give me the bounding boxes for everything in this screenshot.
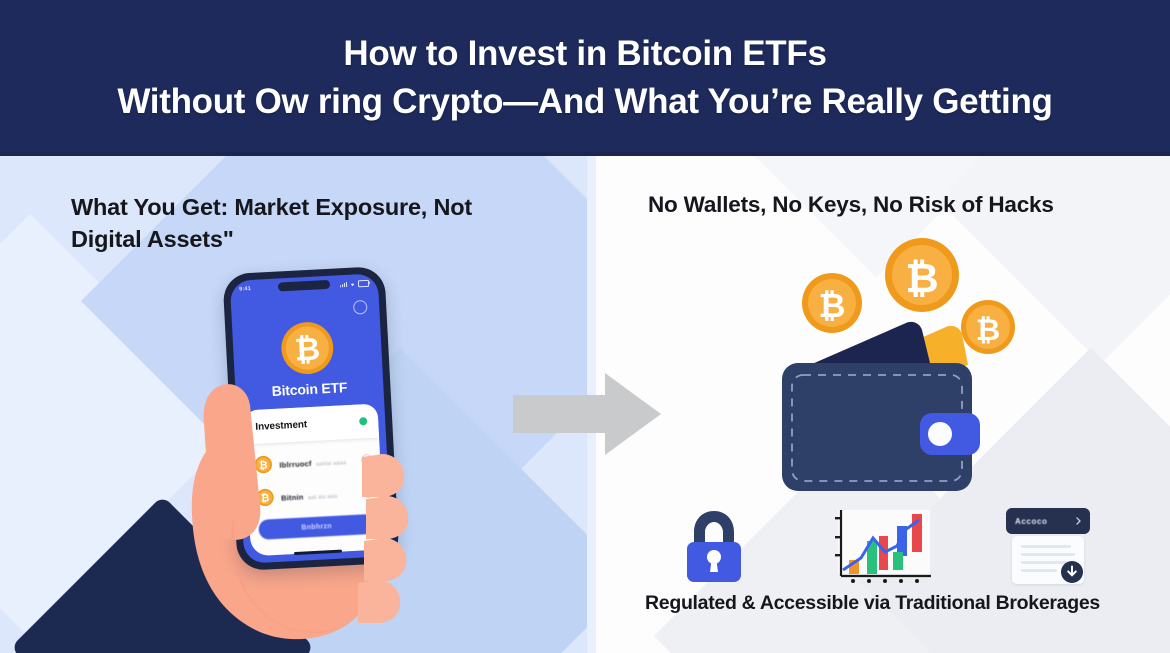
chevron-right-icon bbox=[1076, 517, 1081, 525]
bitcoin-coin-icon: ₿ bbox=[256, 488, 275, 507]
phone-device: 9:41 ₿ Bitcoin ETF bbox=[222, 266, 399, 571]
infographic-root: How to Invest in Bitcoin ETFs Without Ow… bbox=[0, 0, 1170, 653]
header-banner: How to Invest in Bitcoin ETFs Without Ow… bbox=[0, 0, 1170, 156]
account-document-icon: Accoco bbox=[1006, 508, 1090, 586]
list-item[interactable]: ₿ Iblrruocf aaiiiiai aaiaa bbox=[254, 445, 373, 479]
document-text-line bbox=[1021, 553, 1075, 556]
left-panel-heading: What You Get: Market Exposure, Not Digit… bbox=[71, 192, 541, 256]
svg-text:₿: ₿ bbox=[905, 255, 938, 301]
svg-text:₿: ₿ bbox=[819, 287, 846, 324]
list-item-title: Bitnin bbox=[281, 493, 304, 503]
phone-screen: 9:41 ₿ Bitcoin ETF bbox=[230, 273, 393, 563]
svg-text:₿: ₿ bbox=[259, 459, 269, 471]
bitcoin-coin-icon: ₿ bbox=[279, 320, 336, 377]
wallet-body bbox=[782, 363, 980, 491]
document-header-label: Accoco bbox=[1015, 517, 1048, 526]
list-item[interactable]: ₿ Bitnin aaii aia aaia bbox=[255, 478, 374, 512]
battery-icon bbox=[358, 280, 369, 287]
bitcoin-coin-icon: ₿ bbox=[961, 300, 1015, 354]
radio-button[interactable] bbox=[361, 453, 373, 465]
app-title: Bitcoin ETF bbox=[235, 377, 384, 401]
circle-outline-icon[interactable] bbox=[353, 300, 368, 315]
plus-badge-icon[interactable] bbox=[1060, 560, 1084, 584]
document-text-line bbox=[1021, 545, 1071, 548]
radio-button[interactable] bbox=[363, 486, 375, 498]
primary-cta-button[interactable]: Bnbhrzn bbox=[258, 514, 375, 540]
bitcoin-coin-icon: ₿ bbox=[885, 238, 959, 312]
bitcoin-coin-icon: ₿ bbox=[802, 273, 862, 333]
candlestick-chart-icon bbox=[827, 508, 935, 586]
header-title-line-2: Without Ow ring Crypto—And What You’re R… bbox=[117, 78, 1052, 126]
right-panel-heading: No Wallets, No Keys, No Risk of Hacks bbox=[648, 192, 1108, 218]
bitcoin-coin-icon: ₿ bbox=[254, 455, 273, 474]
arrow-right-icon bbox=[513, 373, 661, 455]
cellular-bars-icon bbox=[340, 282, 347, 287]
status-dot bbox=[359, 417, 367, 425]
list-item-subtitle: aaii aia aaia bbox=[308, 494, 338, 502]
svg-text:₿: ₿ bbox=[294, 331, 321, 367]
list-item-subtitle: aaiiiiai aaiaa bbox=[316, 460, 347, 468]
wifi-icon bbox=[349, 281, 356, 286]
svg-text:₿: ₿ bbox=[261, 492, 271, 504]
svg-text:₿: ₿ bbox=[976, 314, 1000, 347]
wallet-icon: ₿ ₿ ₿ bbox=[770, 235, 1040, 505]
investment-card-label: Investment bbox=[255, 419, 307, 433]
investment-card: Investment ₿ Iblrruocf aaiiiiai aaiaa bbox=[243, 404, 384, 557]
padlock-icon bbox=[683, 508, 745, 584]
phone-illustration: 9:41 ₿ Bitcoin ETF bbox=[130, 265, 460, 653]
right-panel-caption: Regulated & Accessible via Traditional B… bbox=[645, 592, 1115, 615]
investment-card-header: Investment bbox=[243, 404, 379, 445]
document-text-line bbox=[1021, 569, 1057, 572]
header-title-line-1: How to Invest in Bitcoin ETFs bbox=[343, 30, 826, 78]
status-bar-time: 9:41 bbox=[239, 286, 251, 293]
list-item-title: Iblrruocf bbox=[279, 459, 312, 470]
